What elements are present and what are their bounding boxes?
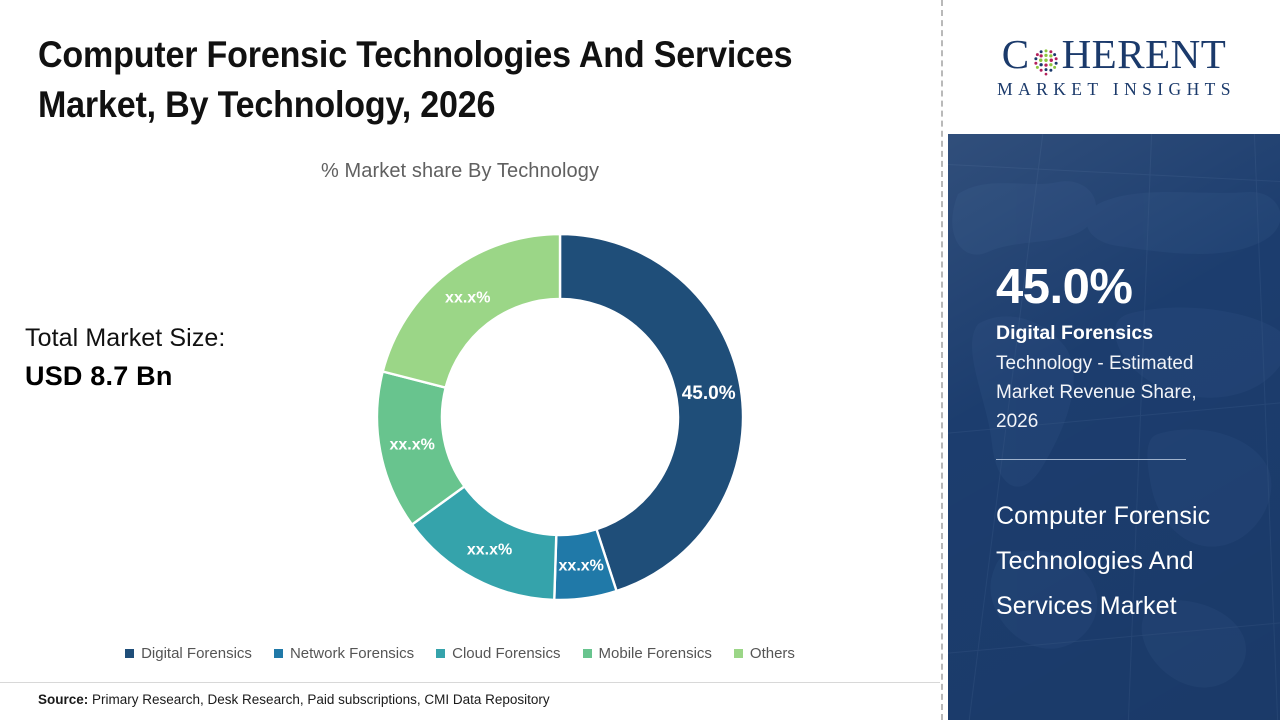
- donut-slice-label: 45.0%: [682, 383, 736, 404]
- donut-chart: 45.0%xx.x%xx.x%xx.x%xx.x%: [377, 234, 743, 600]
- legend-item[interactable]: Others: [734, 645, 795, 662]
- legend-swatch: [583, 649, 592, 658]
- page-title: Computer Forensic Technologies And Servi…: [38, 30, 829, 131]
- donut-slice-label: xx.x%: [559, 558, 604, 575]
- source-divider: [0, 682, 940, 683]
- legend-item[interactable]: Digital Forensics: [125, 645, 252, 662]
- donut-slice-label: xx.x%: [389, 437, 434, 454]
- legend-swatch: [436, 649, 445, 658]
- legend-swatch: [125, 649, 134, 658]
- chart-panel: Computer Forensic Technologies And Servi…: [0, 0, 940, 720]
- brand-panel: C: [948, 0, 1280, 720]
- highlight-divider: [996, 459, 1186, 460]
- logo: C: [948, 0, 1280, 134]
- legend-label: Mobile Forensics: [599, 645, 712, 662]
- legend-item[interactable]: Mobile Forensics: [583, 645, 712, 662]
- logo-wordmark-rest: HERENT: [1062, 34, 1227, 75]
- infographic-root: Computer Forensic Technologies And Servi…: [0, 0, 1280, 720]
- legend-label: Digital Forensics: [141, 645, 252, 662]
- legend-item[interactable]: Network Forensics: [274, 645, 414, 662]
- highlight-stat: 45.0%: [996, 263, 1132, 312]
- globe-dots-icon: [1031, 42, 1061, 72]
- highlight-panel: 45.0% Digital Forensics Technology - Est…: [948, 134, 1280, 720]
- donut-chart-svg: 45.0%xx.x%xx.x%xx.x%xx.x%: [377, 234, 743, 600]
- donut-slice-label: xx.x%: [467, 542, 512, 559]
- legend-item[interactable]: Cloud Forensics: [436, 645, 560, 662]
- source-label: Source:: [38, 692, 88, 707]
- total-market-size-label: Total Market Size:: [25, 324, 225, 353]
- legend-swatch: [274, 649, 283, 658]
- logo-tagline: MARKET INSIGHTS: [992, 79, 1236, 100]
- donut-slice-label: xx.x%: [445, 290, 490, 307]
- logo-wordmark: C: [1002, 34, 1227, 75]
- highlight-description: Technology - Estimated Market Revenue Sh…: [996, 350, 1244, 437]
- legend-label: Network Forensics: [290, 645, 414, 662]
- highlight-content: 45.0% Digital Forensics Technology - Est…: [948, 134, 1280, 720]
- source-note: Source: Primary Research, Desk Research,…: [38, 692, 550, 707]
- report-title: Computer Forensic Technologies And Servi…: [996, 494, 1246, 629]
- highlight-segment-name: Digital Forensics: [996, 324, 1153, 344]
- chart-subtitle: % Market share By Technology: [0, 160, 920, 183]
- legend-label: Cloud Forensics: [452, 645, 560, 662]
- source-text: Primary Research, Desk Research, Paid su…: [88, 692, 549, 707]
- legend-label: Others: [750, 645, 795, 662]
- donut-slice[interactable]: [383, 234, 560, 388]
- legend-swatch: [734, 649, 743, 658]
- panel-divider: [941, 0, 943, 720]
- logo-letter-c: C: [1002, 34, 1030, 75]
- chart-legend: Digital ForensicsNetwork ForensicsCloud …: [0, 645, 920, 662]
- total-market-size-value: USD 8.7 Bn: [25, 361, 173, 392]
